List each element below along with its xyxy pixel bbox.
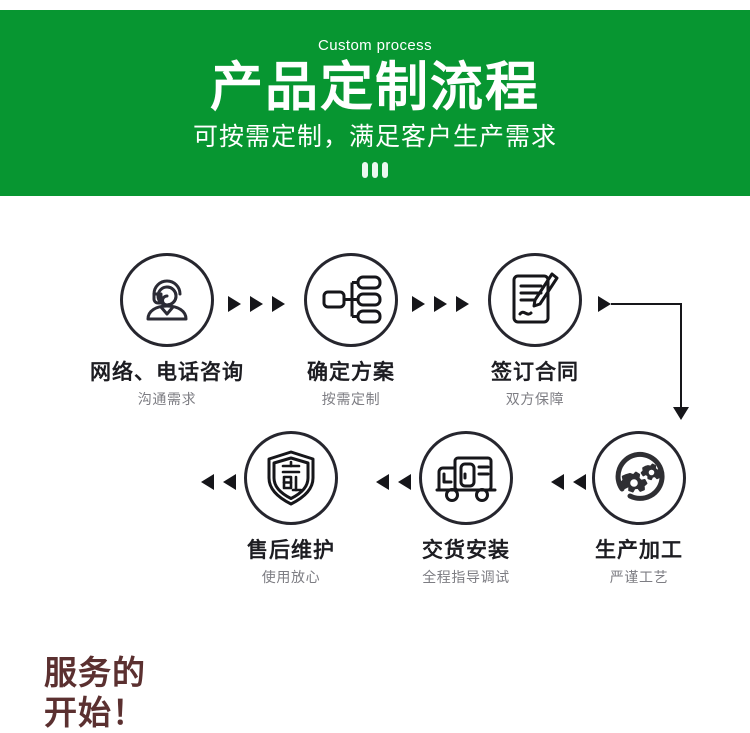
process-flow: 网络、电话咨询 沟通需求 (0, 196, 750, 634)
triangle-right-icon (250, 296, 263, 312)
org-chart-icon (304, 253, 398, 347)
custom-process-infographic: Custom process 产品定制流程 可按需定制，满足客户生产需求 (0, 0, 750, 634)
banner-subtitle: 可按需定制，满足客户生产需求 (0, 121, 750, 153)
flow-step-subtitle: 全程指导调试 (386, 569, 546, 587)
service-start-headline: 服务的 开始！ (44, 653, 194, 733)
banner-dot (372, 162, 378, 178)
triangle-right-icon (228, 296, 241, 312)
flow-step-consultation: 网络、电话咨询 沟通需求 (87, 253, 247, 409)
flow-step-title: 签订合同 (455, 359, 615, 385)
flow-step-plan: 确定方案 按需定制 (271, 253, 431, 409)
headset-person-icon (120, 253, 214, 347)
delivery-truck-icon (419, 431, 513, 525)
flow-step-title: 售后维护 (211, 537, 371, 563)
flow-step-title: 交货安装 (386, 537, 546, 563)
connector-vertical-line (680, 303, 682, 409)
flow-step-after-sales: 售后维护 使用放心 (211, 431, 371, 587)
flow-step-title: 确定方案 (271, 359, 431, 385)
banner-eyebrow: Custom process (0, 37, 750, 54)
page-title: 产品定制流程 (0, 57, 750, 119)
flow-step-title: 生产加工 (559, 537, 719, 563)
flow-step-subtitle: 按需定制 (271, 391, 431, 409)
flow-step-subtitle: 沟通需求 (87, 391, 247, 409)
flow-step-delivery: 交货安装 全程指导调试 (386, 431, 546, 587)
flow-step-subtitle: 使用放心 (211, 569, 371, 587)
header-banner: Custom process 产品定制流程 可按需定制，满足客户生产需求 (0, 10, 750, 196)
connector-horizontal-line (611, 303, 682, 305)
triangle-right-icon (598, 296, 611, 312)
triangle-right-icon (434, 296, 447, 312)
gears-production-icon (592, 431, 686, 525)
shield-after-sales-icon (244, 431, 338, 525)
flow-step-subtitle: 双方保障 (455, 391, 615, 409)
banner-dot (362, 162, 368, 178)
flow-step-contract: 签订合同 双方保障 (455, 253, 615, 409)
triangle-right-icon (412, 296, 425, 312)
flow-step-title: 网络、电话咨询 (87, 359, 247, 385)
contract-pen-icon (488, 253, 582, 347)
banner-dots-decoration (0, 162, 750, 178)
banner-dot (382, 162, 388, 178)
flow-step-subtitle: 严谨工艺 (559, 569, 719, 587)
flow-step-production: 生产加工 严谨工艺 (559, 431, 719, 587)
triangle-down-icon (673, 407, 689, 420)
